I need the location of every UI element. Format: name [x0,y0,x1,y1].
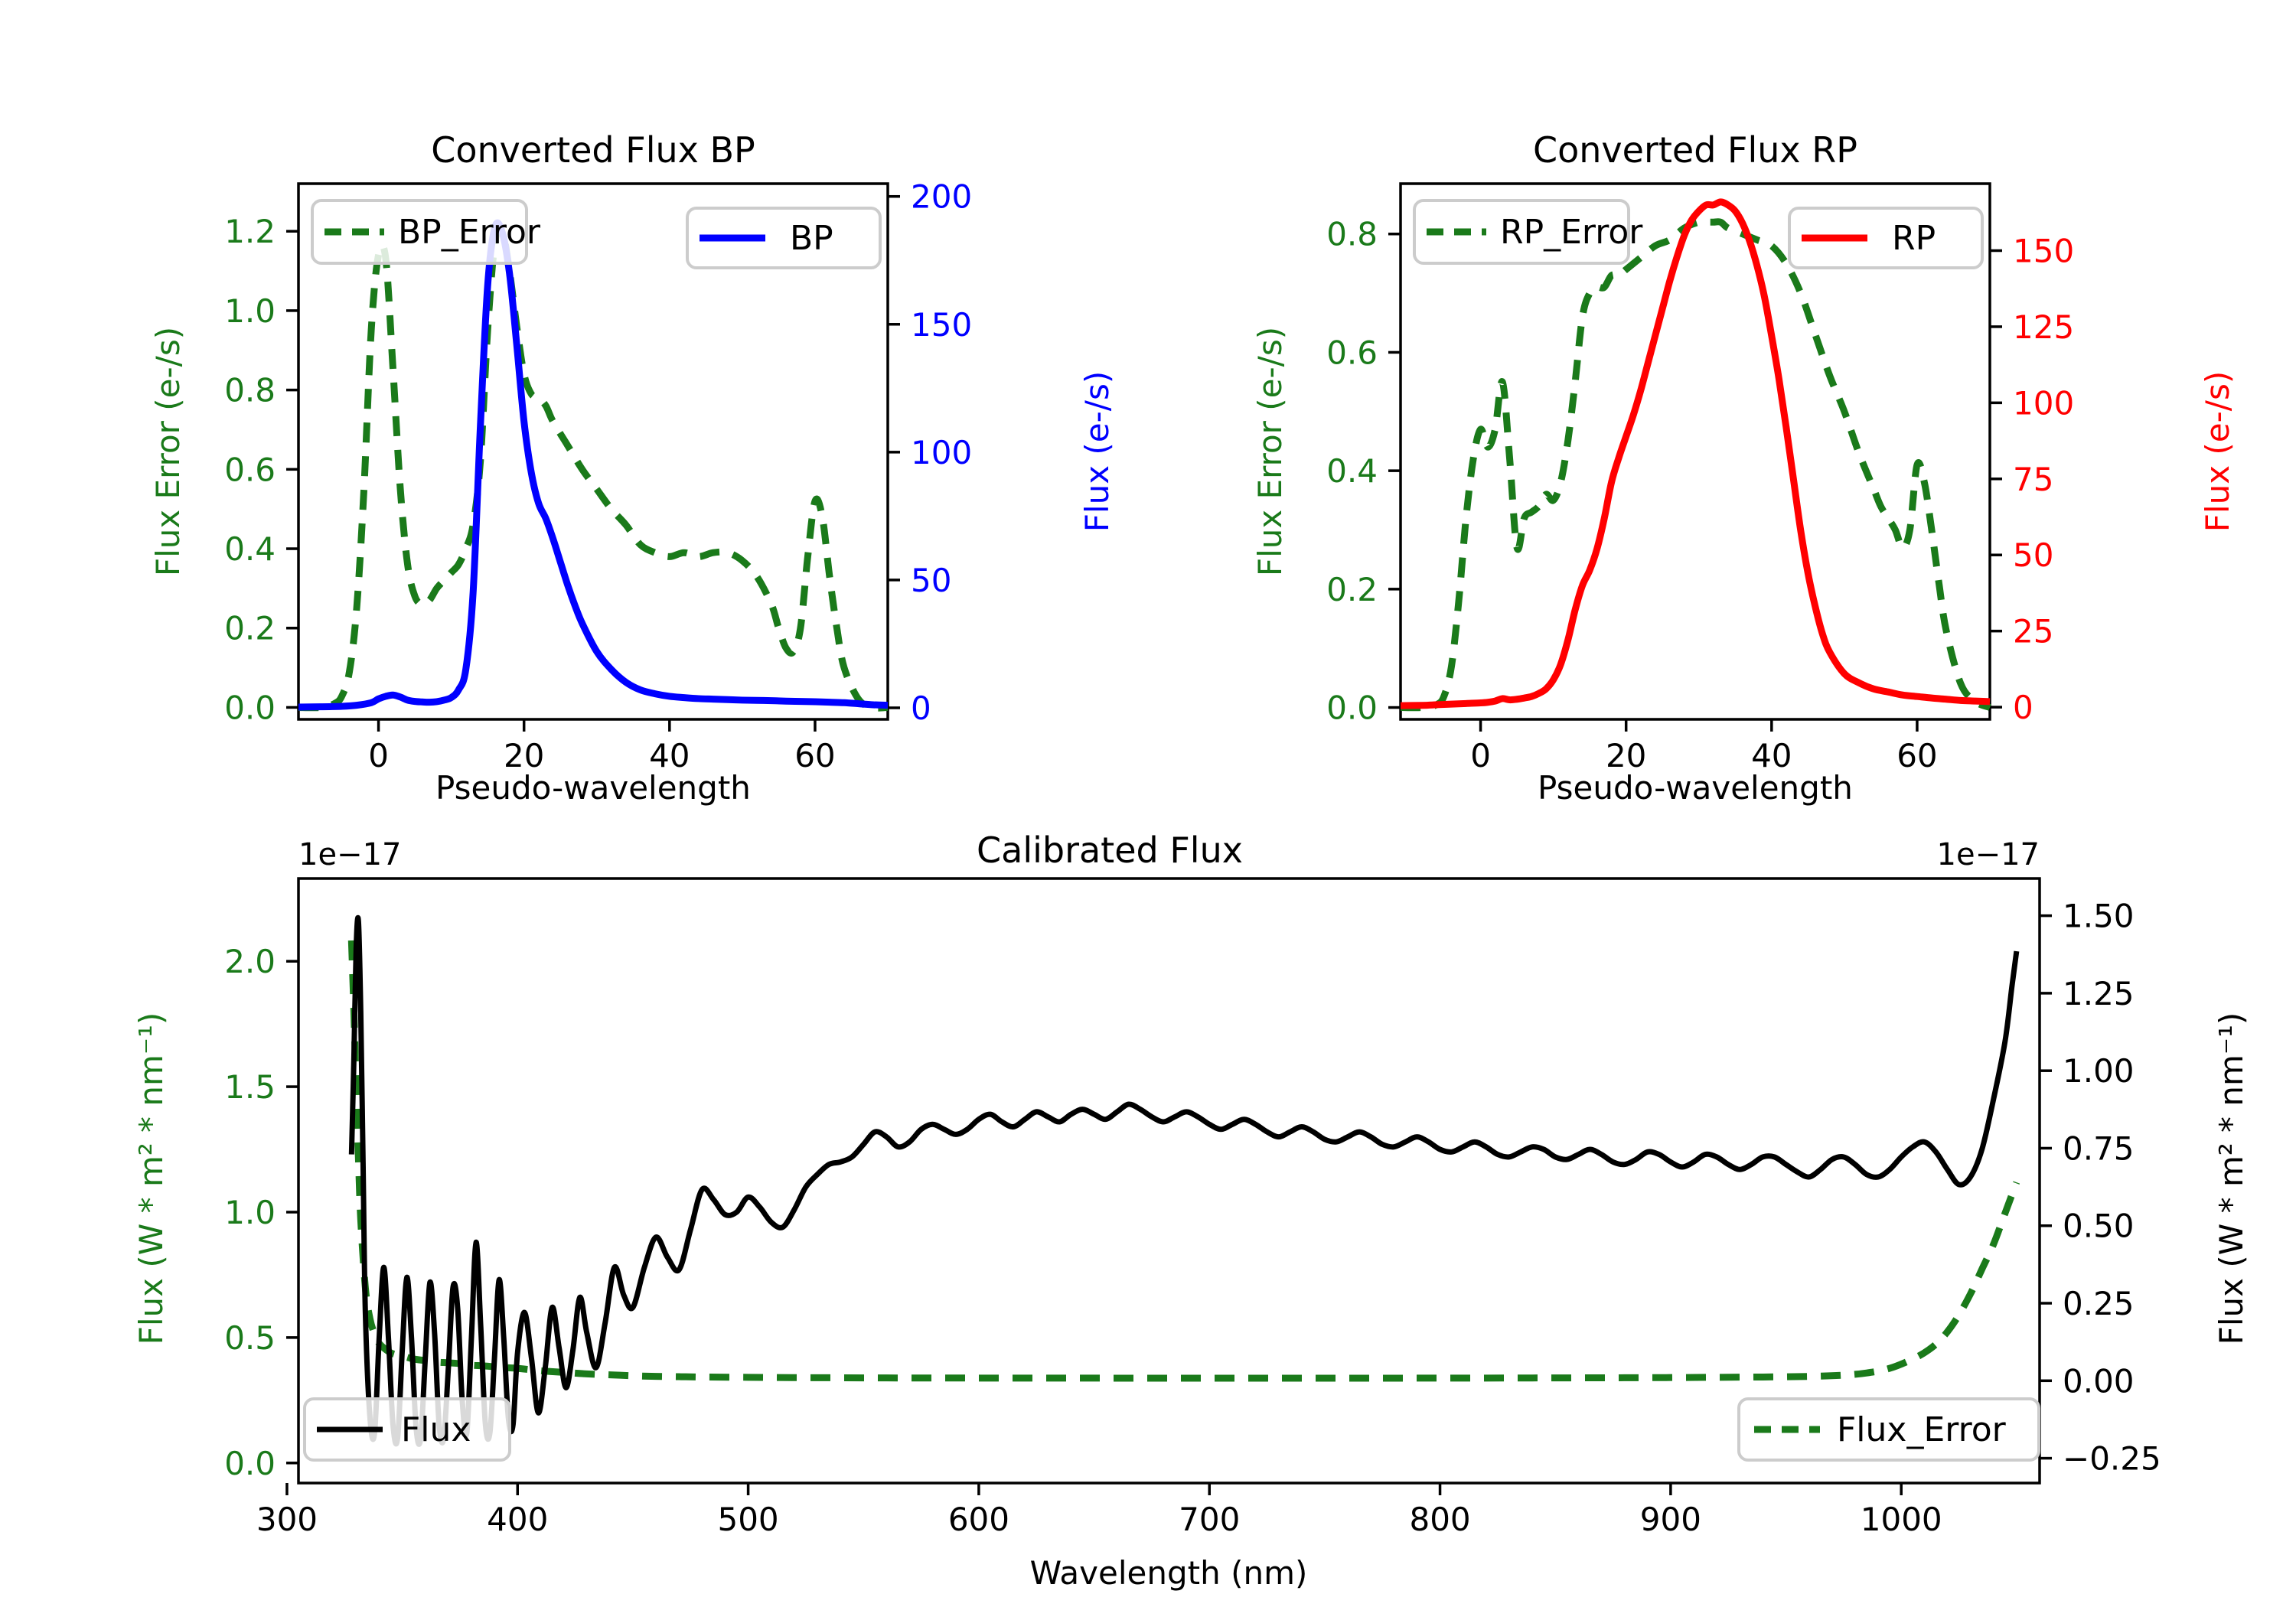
panel-converted-flux-bp: Converted Flux BP 0.00.20.40.60.81.01.2 … [0,0,1148,811]
panel-cal-axes-frame [298,878,2040,1483]
tick-label: 0.25 [2063,1285,2135,1322]
tick-label: 50 [911,562,951,599]
tick-label: 1.50 [2063,898,2135,935]
tick-label: 0.8 [224,372,276,409]
tick-label: 0.0 [224,689,276,726]
tick-label: 0.5 [224,1319,276,1357]
panel-rp-ylabel-left: Flux Error (e-/s) [1251,327,1289,576]
tick-label: 1.0 [224,1194,276,1231]
tick-label: 0.4 [224,530,276,568]
tick-label: 0.00 [2063,1362,2135,1400]
tick-label: 0.4 [1326,452,1378,490]
panel-rp-right-tick-group: 0255075100125150 [1990,233,2074,727]
tick-label: 0.0 [224,1445,276,1482]
panel-bp-left-tick-group: 0.00.20.40.60.81.01.2 [224,213,298,726]
bp-error-curve [298,229,888,708]
panel-calibrated-flux: Calibrated Flux 1e−17 1e−17 0.00.51.01.5… [0,811,2296,1607]
panel-rp-xlabel: Pseudo-wavelength [1538,769,1853,807]
tick-label: 1.2 [224,213,276,250]
tick-label: 1.25 [2063,975,2135,1012]
tick-label: 2.0 [224,943,276,980]
tick-label: 900 [1640,1501,1701,1538]
panel-cal-title: Calibrated Flux [977,830,1243,871]
figure-canvas: Converted Flux BP 0.00.20.40.60.81.01.2 … [0,0,2296,1607]
tick-label: 0 [2013,689,2033,726]
flux-error-legend-label: Flux_Error [1837,1410,2007,1449]
tick-label: 0 [368,737,389,774]
panel-rp-title: Converted Flux RP [1533,129,1857,171]
tick-label: 0.8 [1326,216,1378,253]
panel-cal-left-tick-group: 0.00.51.01.52.0 [224,943,298,1482]
panel-cal-offset-left: 1e−17 [298,837,401,872]
panel-converted-flux-rp: Converted Flux RP 0.00.20.40.60.8 025507… [1148,0,2296,811]
panel-bp-title: Converted Flux BP [431,129,755,171]
panel-rp-left-tick-group: 0.00.20.40.60.8 [1326,216,1401,727]
tick-label: 400 [487,1501,548,1538]
panel-cal-x-tick-group: 3004005006007008009001000 [256,1483,1942,1538]
tick-label: 60 [794,737,835,774]
tick-label: 60 [1896,737,1937,774]
tick-label: 0.75 [2063,1129,2135,1167]
tick-label: 1000 [1861,1501,1942,1538]
tick-label: 75 [2013,461,2053,498]
tick-label: 50 [2013,536,2053,574]
rp-legend-label: RP [1892,219,1936,258]
panel-cal-legend-flux[interactable]: Flux [305,1399,510,1460]
tick-label: 100 [911,434,972,471]
panel-bp-ylabel-left: Flux Error (e-/s) [149,327,187,576]
tick-label: 600 [948,1501,1009,1538]
tick-label: 700 [1179,1501,1240,1538]
bp-error-legend-label: BP_Error [398,213,541,252]
tick-label: 1.5 [224,1068,276,1106]
panel-cal-legend-flux-error[interactable]: Flux_Error [1739,1399,2039,1460]
panel-rp-legend-flux[interactable]: RP [1789,208,1982,268]
panel-rp-ylabel-right: Flux (e-/s) [2199,371,2236,532]
tick-label: 800 [1409,1501,1470,1538]
panel-cal-ylabel-left: Flux (W * m² * nm⁻¹) [132,1012,170,1345]
panel-cal-offset-right: 1e−17 [1937,837,2040,872]
tick-label: 0.2 [1326,571,1378,608]
tick-label: 1.0 [224,292,276,330]
panel-cal-right-tick-group: −0.250.000.250.500.751.001.251.50 [2040,898,2161,1478]
tick-label: 0 [911,689,931,727]
tick-label: 200 [911,178,972,216]
panel-bp-legend-error[interactable]: BP_Error [312,200,541,263]
panel-rp-x-tick-group: 0204060 [1470,719,1937,774]
tick-label: 1.00 [2063,1052,2135,1090]
panel-rp-legend-error[interactable]: RP_Error [1414,200,1643,263]
tick-label: 0.50 [2063,1208,2135,1245]
rp-flux-curve [1401,202,1990,706]
tick-label: 300 [256,1501,318,1538]
panel-bp-ylabel-right: Flux (e-/s) [1078,371,1116,532]
tick-label: 125 [2013,308,2074,346]
calibrated-flux-curve [351,918,2017,1444]
rp-error-curve [1401,222,1990,708]
panel-bp-right-tick-group: 050100150200 [888,178,972,727]
tick-label: 100 [2013,384,2074,422]
tick-label: 0 [1470,737,1491,774]
panel-bp-x-tick-group: 0204060 [368,719,835,774]
panel-bp-xlabel: Pseudo-wavelength [435,769,751,807]
calibrated-flux-error-curve [351,940,2017,1378]
tick-label: 150 [911,306,972,344]
panel-cal-xlabel: Wavelength (nm) [1030,1554,1308,1592]
panel-bp-legend-flux[interactable]: BP [687,208,880,268]
tick-label: 0.2 [224,610,276,647]
bp-legend-label: BP [790,219,833,258]
tick-label: 500 [717,1501,778,1538]
rp-error-legend-label: RP_Error [1500,213,1643,252]
tick-label: −0.25 [2063,1440,2161,1478]
flux-legend-label: Flux [401,1410,471,1449]
tick-label: 0.6 [224,451,276,488]
tick-label: 25 [2013,613,2053,650]
tick-label: 150 [2013,233,2074,270]
tick-label: 0.0 [1326,689,1378,727]
panel-cal-ylabel-right: Flux (W * m² * nm⁻¹) [2213,1012,2250,1345]
tick-label: 0.6 [1326,334,1378,371]
